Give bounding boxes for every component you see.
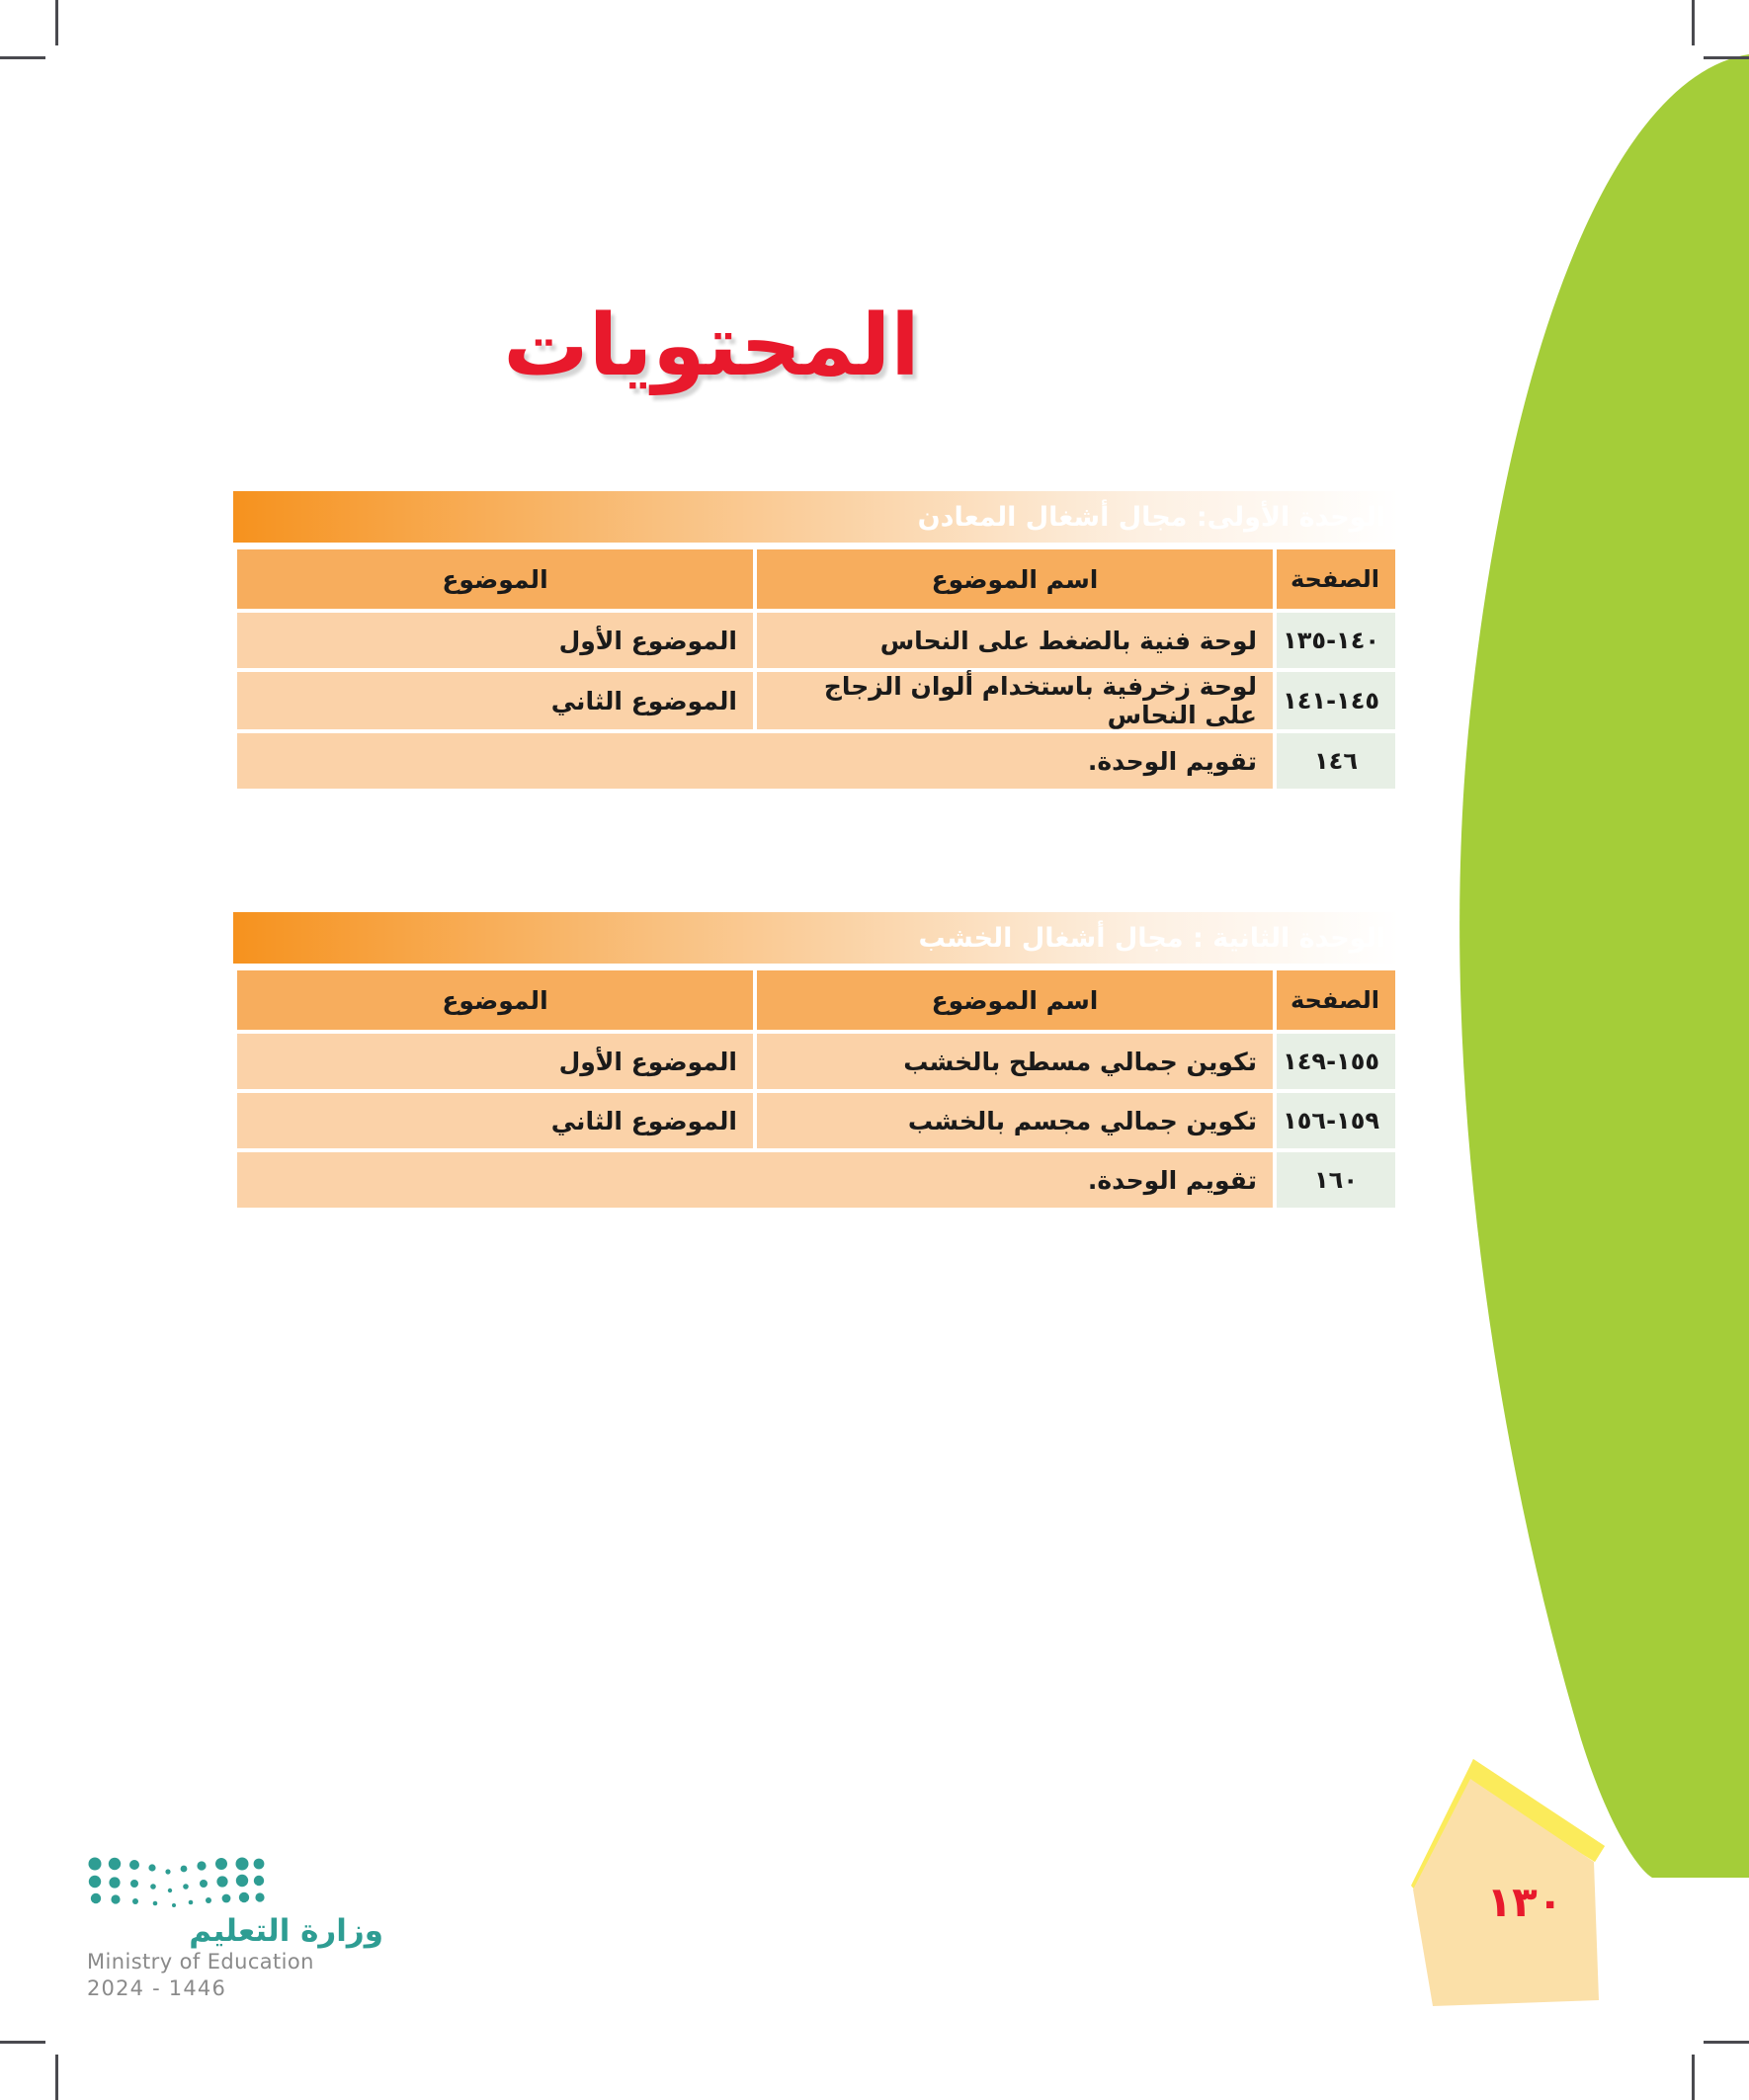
cell-page: ١٤٠-١٣٥: [1277, 613, 1395, 668]
cell-topic-name: تكوين جمالي مسطح بالخشب: [757, 1034, 1273, 1089]
cell-page: ١٤٥-١٤١: [1277, 672, 1395, 729]
table-row[interactable]: ١٥٥-١٤٩ تكوين جمالي مسطح بالخشب الموضوع …: [237, 1034, 1395, 1089]
cell-topic: الموضوع الثاني: [237, 1093, 753, 1148]
cell-evaluation-label: تقويم الوحدة.: [237, 1152, 1273, 1208]
crop-mark-top-left-vertical: [55, 0, 58, 45]
unit-banner-label: الوحدة الأولى: مجال أشغال المعادن: [918, 502, 1385, 533]
cell-page: ١٦٠: [1277, 1152, 1395, 1208]
crop-mark-top-left-horizontal: [0, 56, 45, 59]
table-row-evaluation[interactable]: ١٦٠ تقويم الوحدة.: [237, 1152, 1395, 1208]
cell-topic-name: تكوين جمالي مجسم بالخشب: [757, 1093, 1273, 1148]
vision-dots-icon: [87, 1856, 265, 1907]
crop-mark-top-right-horizontal: [1704, 56, 1749, 59]
page-number-badge: ١٣٠: [1411, 1759, 1668, 2046]
column-header-topic: الموضوع: [237, 970, 753, 1030]
cell-page: ١٤٦: [1277, 733, 1395, 789]
table-header-row: الصفحة اسم الموضوع الموضوع: [237, 549, 1395, 609]
column-header-name: اسم الموضوع: [757, 970, 1273, 1030]
cell-topic: الموضوع الثاني: [237, 672, 753, 729]
cell-topic-name: لوحة فنية بالضغط على النحاس: [757, 613, 1273, 668]
table-header-row: الصفحة اسم الموضوع الموضوع: [237, 970, 1395, 1030]
cell-topic-name: لوحة زخرفية باستخدام ألوان الزجاج على ال…: [757, 672, 1273, 729]
page-number: ١٣٠: [1411, 1878, 1638, 1926]
page-title: المحتويات: [0, 296, 1423, 395]
column-header-name: اسم الموضوع: [757, 549, 1273, 609]
ministry-name-arabic: وزارة التعليم: [87, 1913, 383, 1949]
cell-topic: الموضوع الأول: [237, 1034, 753, 1089]
cell-topic: الموضوع الأول: [237, 613, 753, 668]
crop-mark-bottom-left-horizontal: [0, 2041, 45, 2044]
cell-evaluation-label: تقويم الوحدة.: [237, 733, 1273, 789]
toc-unit-block-2: الوحدة الثانية : مجال أشغال الخشب الصفحة…: [233, 912, 1399, 1212]
column-header-topic: الموضوع: [237, 549, 753, 609]
cell-page: ١٥٥-١٤٩: [1277, 1034, 1395, 1089]
toc-unit-block-1: الوحدة الأولى: مجال أشغال المعادن الصفحة…: [233, 491, 1399, 793]
crop-mark-bottom-right-vertical: [1692, 2055, 1695, 2100]
ministry-of-education-logo: وزارة التعليم Ministry of Education 2024…: [87, 1856, 383, 2000]
column-header-page: الصفحة: [1277, 970, 1395, 1030]
green-leaf-decoration: [1393, 0, 1749, 1878]
table-row[interactable]: ١٤٥-١٤١ لوحة زخرفية باستخدام ألوان الزجا…: [237, 672, 1395, 729]
toc-table-2: الصفحة اسم الموضوع الموضوع ١٥٥-١٤٩ تكوين…: [233, 966, 1399, 1212]
table-row-evaluation[interactable]: ١٤٦ تقويم الوحدة.: [237, 733, 1395, 789]
unit-banner-label: الوحدة الثانية : مجال أشغال الخشب: [919, 923, 1385, 954]
table-row[interactable]: ١٤٠-١٣٥ لوحة فنية بالضغط على النحاس المو…: [237, 613, 1395, 668]
unit-banner-1: الوحدة الأولى: مجال أشغال المعادن: [233, 491, 1399, 543]
ministry-years: 2024 - 1446: [87, 1976, 383, 2000]
crop-mark-bottom-left-vertical: [55, 2055, 58, 2100]
table-row[interactable]: ١٥٩-١٥٦ تكوين جمالي مجسم بالخشب الموضوع …: [237, 1093, 1395, 1148]
toc-table-1: الصفحة اسم الموضوع الموضوع ١٤٠-١٣٥ لوحة …: [233, 546, 1399, 793]
cell-page: ١٥٩-١٥٦: [1277, 1093, 1395, 1148]
crop-mark-bottom-right-horizontal: [1704, 2041, 1749, 2044]
column-header-page: الصفحة: [1277, 549, 1395, 609]
ministry-name-english: Ministry of Education: [87, 1950, 383, 1974]
unit-banner-2: الوحدة الثانية : مجال أشغال الخشب: [233, 912, 1399, 964]
crop-mark-top-right-vertical: [1692, 0, 1695, 45]
